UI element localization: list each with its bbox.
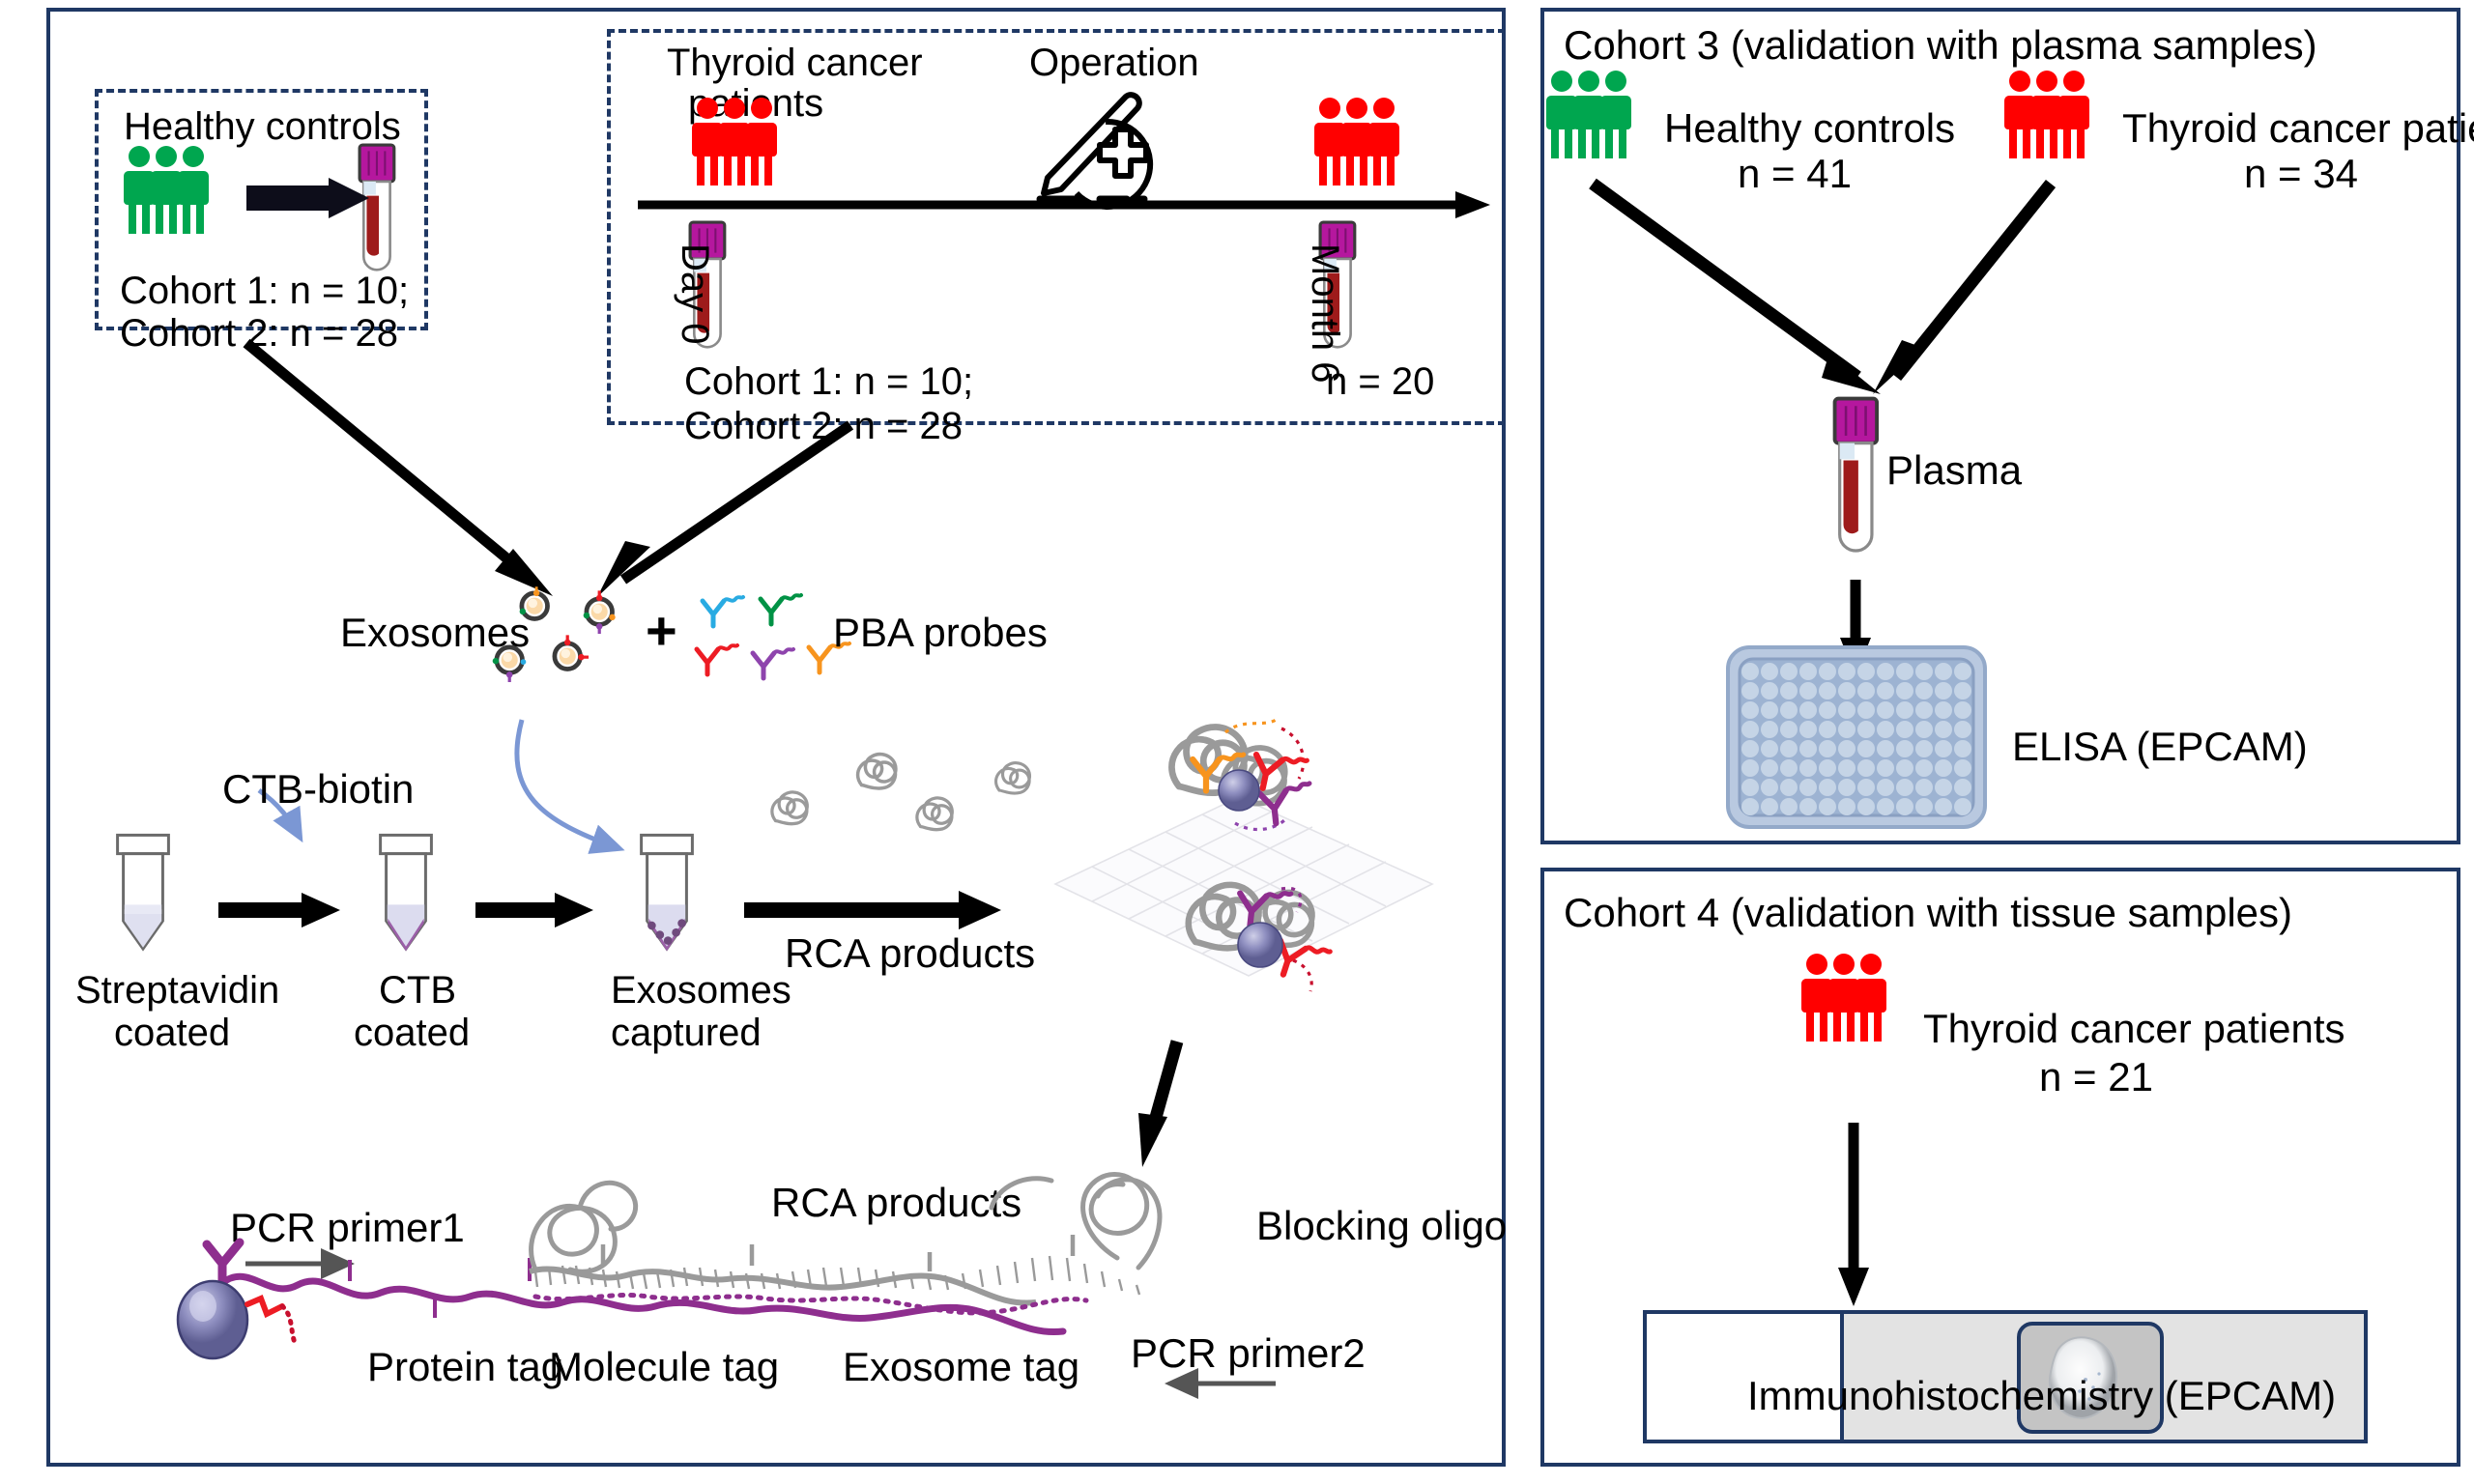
day0-label: Day 0 (672, 243, 717, 345)
step2-line2: coated (354, 1011, 470, 1056)
healthy-cohort1-n: Cohort 1: n = 10; (120, 269, 409, 314)
scalpel-operation-icon (1024, 85, 1160, 206)
people-group-icon (1803, 953, 1919, 1054)
people-group-icon (126, 145, 242, 246)
timeline-cohort2-n: Cohort 2: n = 28 (684, 404, 963, 449)
cohort4-patients-label: Thyroid cancer patients (1923, 1005, 2345, 1053)
people-group-icon (1316, 97, 1432, 198)
micro-centrifuge-tube-icon (114, 833, 174, 958)
step1-line1: Streptavidin (75, 968, 279, 1013)
ctb-biotin-label: CTB-biotin (222, 765, 414, 813)
rca-product-coil-icon (763, 744, 1063, 870)
micro-centrifuge-tube-icon (377, 833, 437, 958)
people-group-icon (694, 97, 810, 198)
plus-sign: + (646, 599, 677, 663)
patients-title-line1: Thyroid cancer (667, 41, 923, 86)
cohort3-patients-label: Thyroid cancer patients (2122, 104, 2474, 153)
people-group-icon (2006, 70, 2122, 171)
elisa-label: ELISA (EPCAM) (2012, 723, 2308, 771)
people-group-icon (1548, 70, 1664, 171)
step2-line1: CTB (379, 968, 456, 1013)
step3-line1: Exosomes (611, 968, 791, 1013)
plasma-label: Plasma (1886, 446, 2022, 495)
operation-label: Operation (1029, 41, 1199, 86)
cohort3-title: Cohort 3 (validation with plasma samples… (1564, 21, 2317, 70)
rca-products-label-top: RCA products (785, 929, 1035, 978)
pba-probes-label: PBA probes (833, 609, 1048, 657)
step1-line2: coated (114, 1011, 230, 1056)
elisa-microplate-icon (1726, 645, 1987, 829)
healthy-cohort2-n: Cohort 2: n = 28 (120, 311, 398, 357)
cohort4-title: Cohort 4 (validation with tissue samples… (1564, 889, 2292, 937)
step3-line2: captured (611, 1011, 762, 1056)
timeline-cohort1-n: Cohort 1: n = 10; (684, 359, 973, 405)
ihc-label: Immunohistochemistry (EPCAM) (1747, 1372, 2336, 1420)
dna-construct-diagram (145, 1111, 1440, 1469)
cohort3-patients-n: n = 34 (2244, 150, 2358, 198)
cohort3-healthy-n: n = 41 (1738, 150, 1852, 198)
month6-n: n = 20 (1326, 359, 1434, 405)
blood-collection-tube-icon (1832, 396, 1886, 560)
micro-centrifuge-tube-icon (638, 833, 698, 958)
cohort3-healthy-label: Healthy controls (1664, 104, 1955, 153)
rca-products-on-plane (1046, 705, 1452, 1082)
blood-collection-tube-icon (358, 143, 402, 278)
cohort4-patients-n: n = 21 (2039, 1053, 2153, 1101)
